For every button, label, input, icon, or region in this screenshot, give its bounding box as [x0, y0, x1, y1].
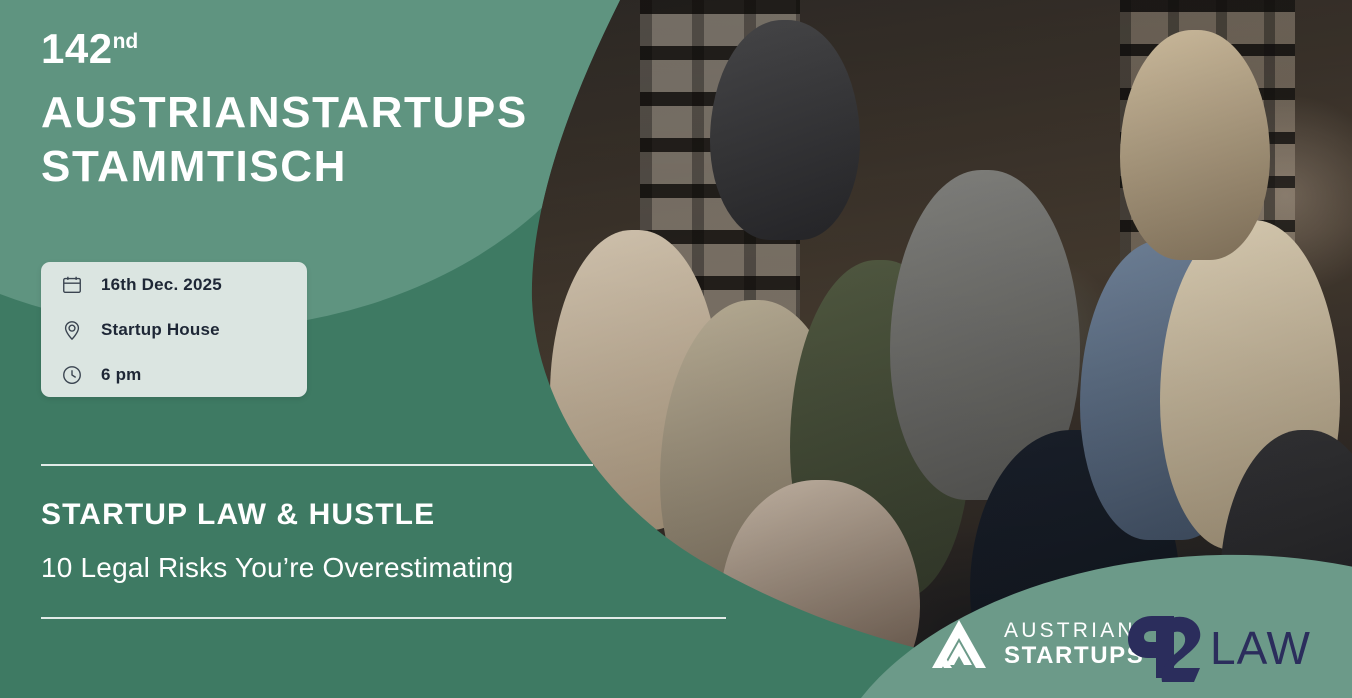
event-detail-location: Startup House [41, 307, 307, 352]
session-title: STARTUP LAW & HUSTLE [41, 498, 435, 532]
calendar-icon [59, 272, 85, 298]
edition-number-value: 142 [41, 25, 113, 72]
event-banner: 142nd AUSTRIANSTARTUPS STAMMTISCH 16th D… [0, 0, 1352, 698]
edition-number: 142nd [41, 28, 561, 70]
austrianstartups-logo: AUSTRIAN STARTUPS [928, 618, 1144, 670]
session-subtitle: 10 Legal Risks You’re Overestimating [41, 552, 514, 584]
page-title: AUSTRIANSTARTUPS STAMMTISCH [41, 86, 561, 193]
42law-wordmark: LAW [1210, 625, 1311, 671]
event-time-value: 6 pm [101, 365, 141, 385]
event-date-value: 16th Dec. 2025 [101, 275, 222, 295]
event-title-line-2: STAMMTISCH [41, 140, 561, 194]
divider-top [41, 464, 593, 466]
event-location-value: Startup House [101, 320, 220, 340]
divider-bottom [41, 617, 726, 619]
event-detail-time: 6 pm [41, 352, 307, 397]
triangle-chevron-mark-icon [928, 618, 990, 670]
crowd-figure [1120, 30, 1270, 260]
event-title-line-1: AUSTRIANSTARTUPS [41, 86, 561, 140]
event-detail-date: 16th Dec. 2025 [41, 262, 307, 307]
crowd-figure [710, 20, 860, 240]
42-numeral-mark-icon [1122, 612, 1210, 684]
42law-logo: LAW [1122, 612, 1311, 684]
location-pin-icon [59, 317, 85, 343]
title-block: 142nd AUSTRIANSTARTUPS STAMMTISCH [41, 28, 561, 193]
edition-suffix: nd [113, 30, 139, 53]
event-details-card: 16th Dec. 2025 Startup House 6 pm [41, 262, 307, 397]
clock-icon [59, 362, 85, 388]
